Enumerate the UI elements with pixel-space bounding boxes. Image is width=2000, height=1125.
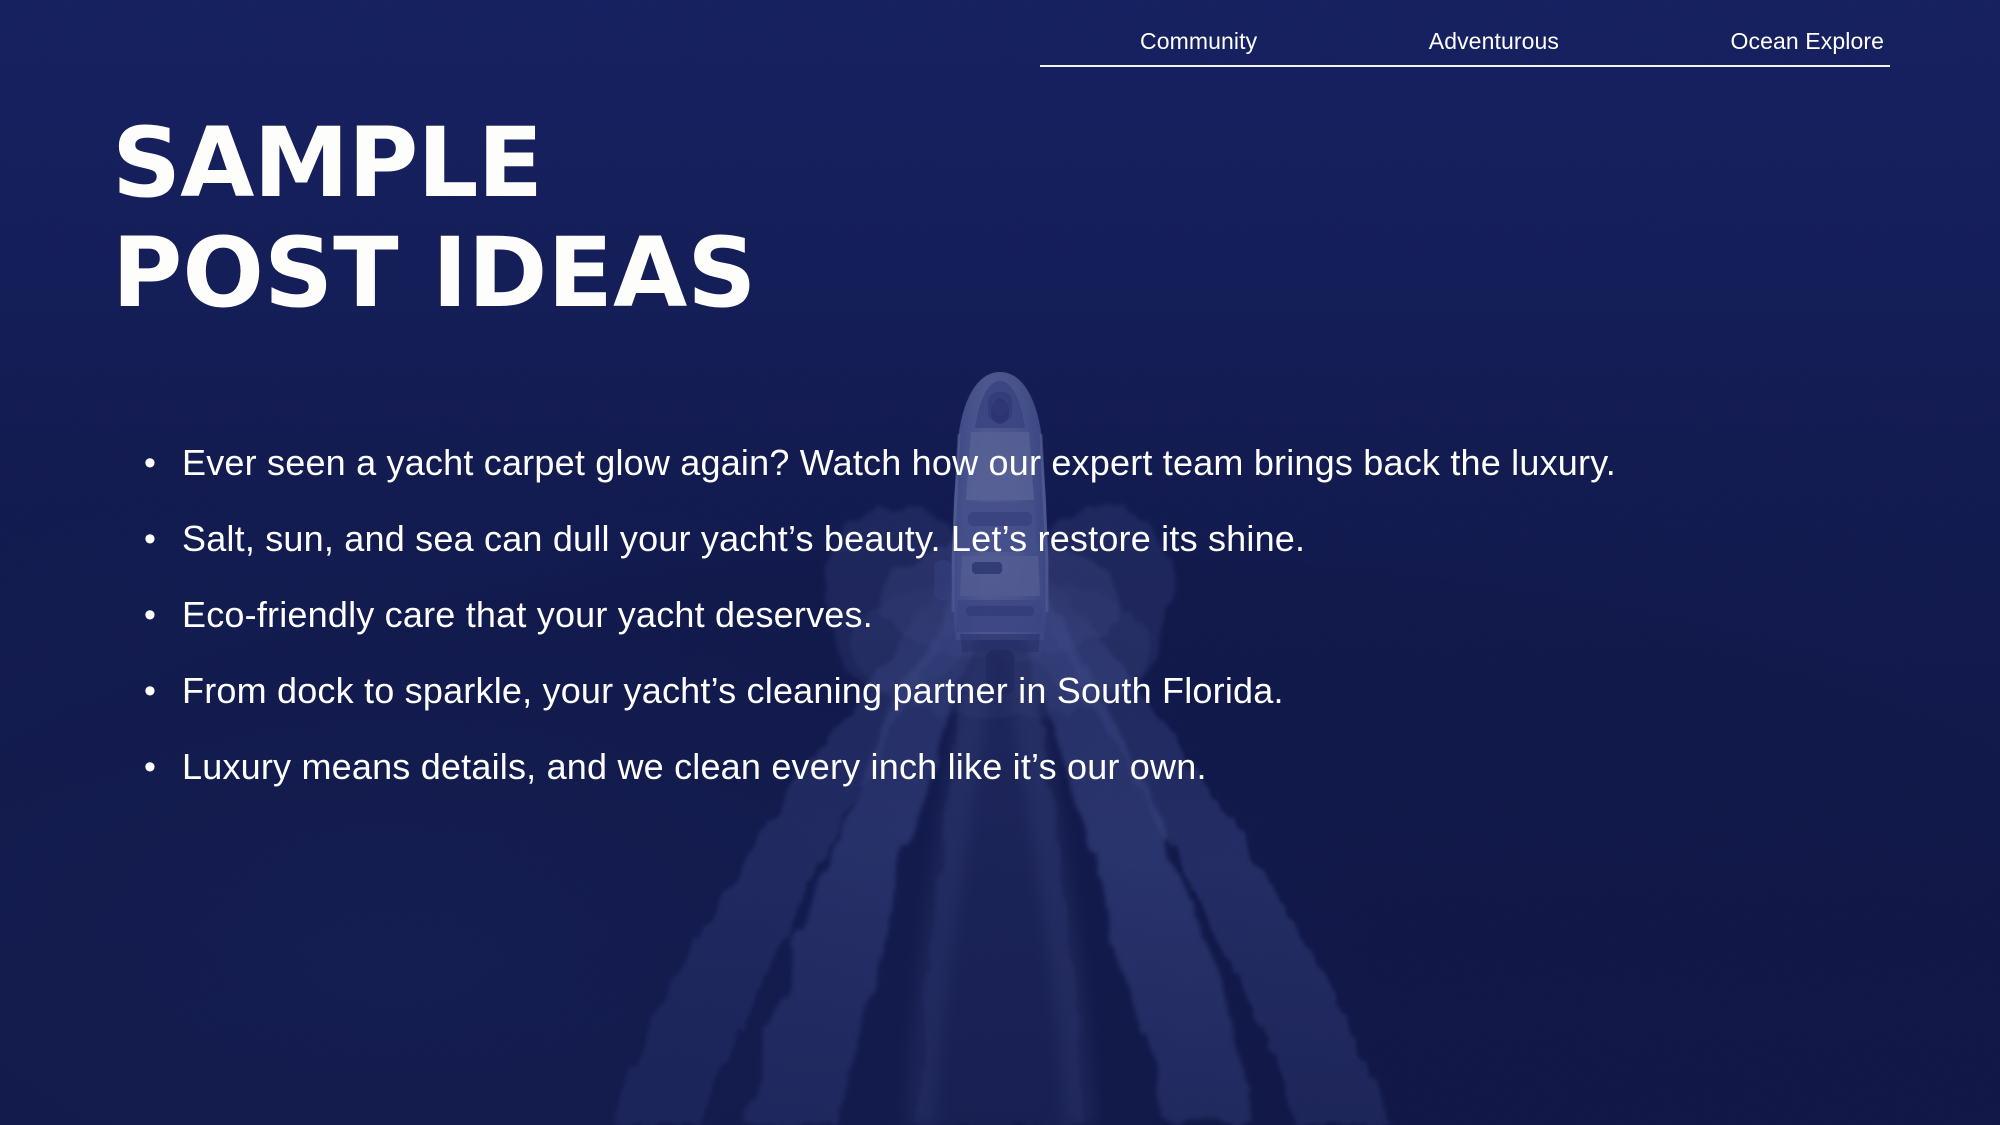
list-item: • Ever seen a yacht carpet glow again? W… [138,428,1898,498]
list-item-text: Luxury means details, and we clean every… [182,732,1207,802]
list-item: • Eco-friendly care that your yacht dese… [138,580,1898,650]
nav-item-adventurous[interactable]: Adventurous [1429,30,1559,65]
nav-item-ocean-explore[interactable]: Ocean Explore [1731,30,1884,65]
list-item-text: Ever seen a yacht carpet glow again? Wat… [182,428,1616,498]
list-item-text: Eco-friendly care that your yacht deserv… [182,580,873,650]
bullet-marker-icon: • [138,732,182,802]
list-item-text: From dock to sparkle, your yacht’s clean… [182,656,1284,726]
post-ideas-list: • Ever seen a yacht carpet glow again? W… [138,428,1898,808]
slide-canvas: Community Adventurous Ocean Explore SAMP… [0,0,2000,1125]
bullet-marker-icon: • [138,504,182,574]
nav-divider-line [1040,65,1890,67]
top-navigation: Community Adventurous Ocean Explore [1040,30,1890,67]
nav-item-community[interactable]: Community [1140,30,1257,65]
list-item: • From dock to sparkle, your yacht’s cle… [138,656,1898,726]
page-title: SAMPLE POST IDEAS [112,108,756,329]
list-item-text: Salt, sun, and sea can dull your yacht’s… [182,504,1305,574]
page-title-line-1: SAMPLE [112,108,756,218]
list-item: • Luxury means details, and we clean eve… [138,732,1898,802]
bullet-marker-icon: • [138,656,182,726]
page-title-line-2: POST IDEAS [112,218,756,328]
list-item: • Salt, sun, and sea can dull your yacht… [138,504,1898,574]
bullet-marker-icon: • [138,580,182,650]
nav-item-list: Community Adventurous Ocean Explore [1040,30,1890,65]
bullet-marker-icon: • [138,428,182,498]
